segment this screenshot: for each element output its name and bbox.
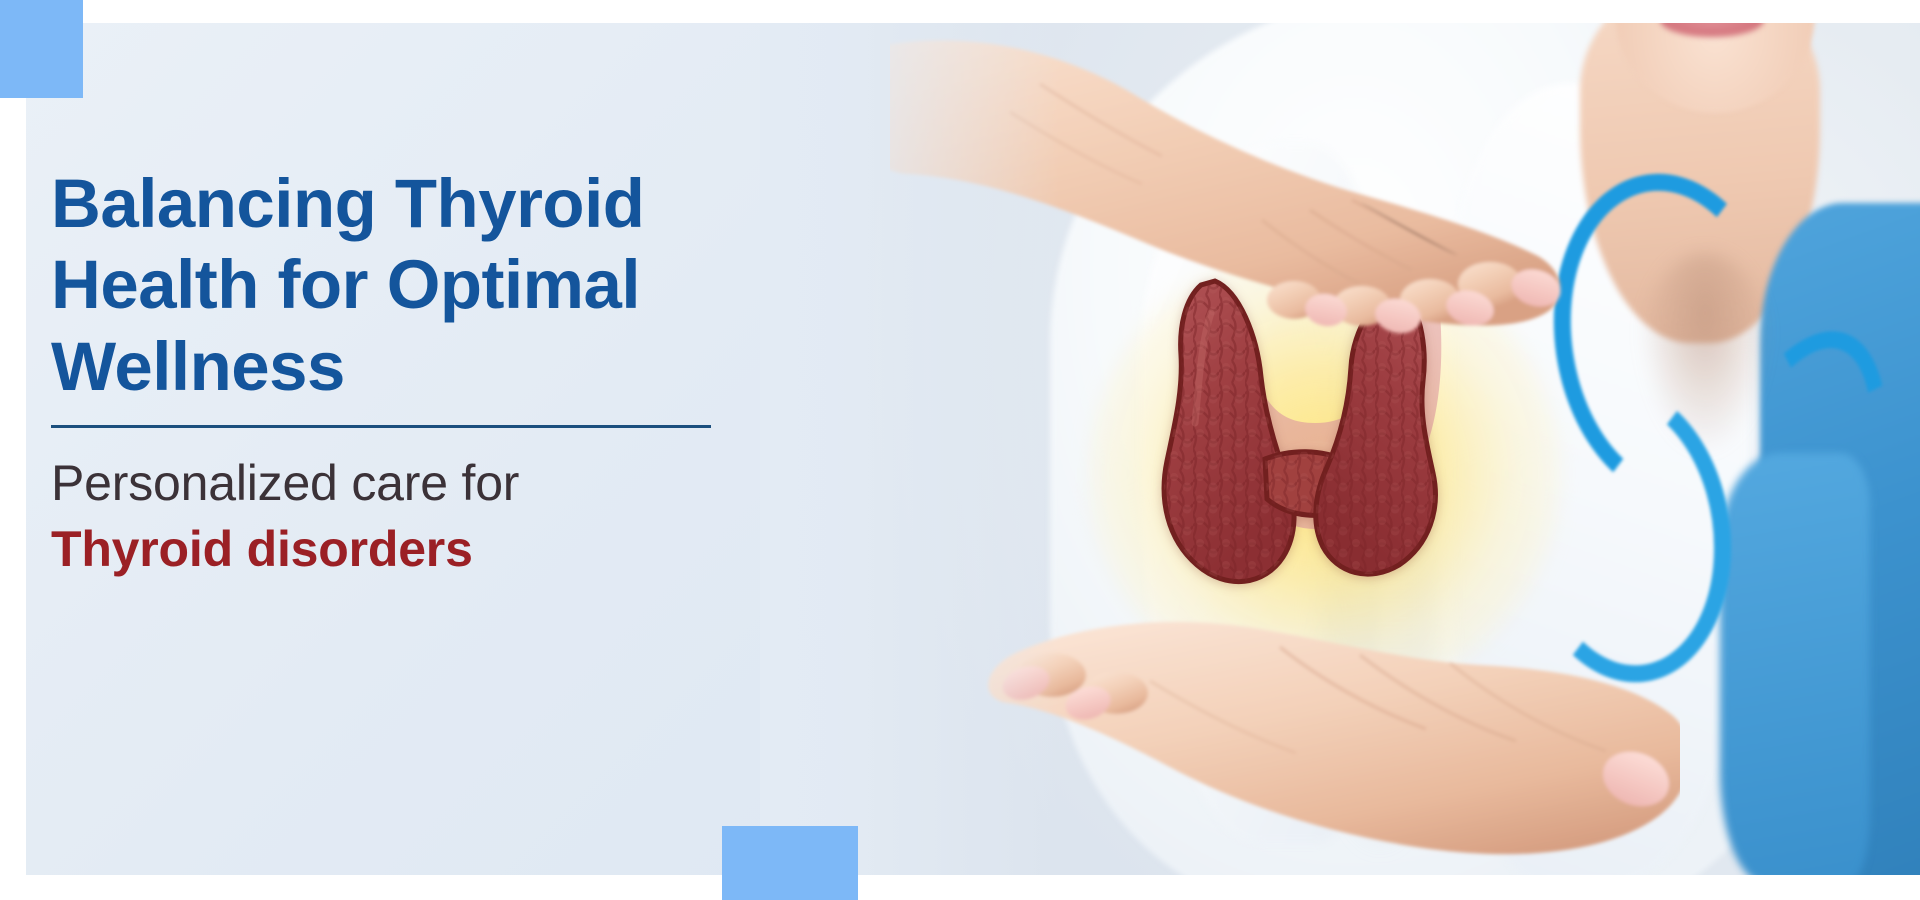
subtitle-line-two: Thyroid disorders (51, 519, 791, 579)
banner-content: Balancing Thyroid Health for Optimal Wel… (51, 163, 791, 579)
doctor-hand-lower (960, 543, 1680, 875)
title-divider (51, 425, 711, 428)
accent-square-bottom (722, 826, 858, 900)
banner-panel: Balancing Thyroid Health for Optimal Wel… (26, 23, 1920, 875)
thyroid-health-banner: Balancing Thyroid Health for Optimal Wel… (0, 0, 1920, 900)
page-title: Balancing Thyroid Health for Optimal Wel… (51, 163, 791, 407)
doctor-photo (760, 23, 1920, 875)
accent-square-top-left (0, 0, 83, 98)
subtitle-line-one: Personalized care for (51, 454, 791, 513)
photo-left-fade (760, 23, 1060, 875)
